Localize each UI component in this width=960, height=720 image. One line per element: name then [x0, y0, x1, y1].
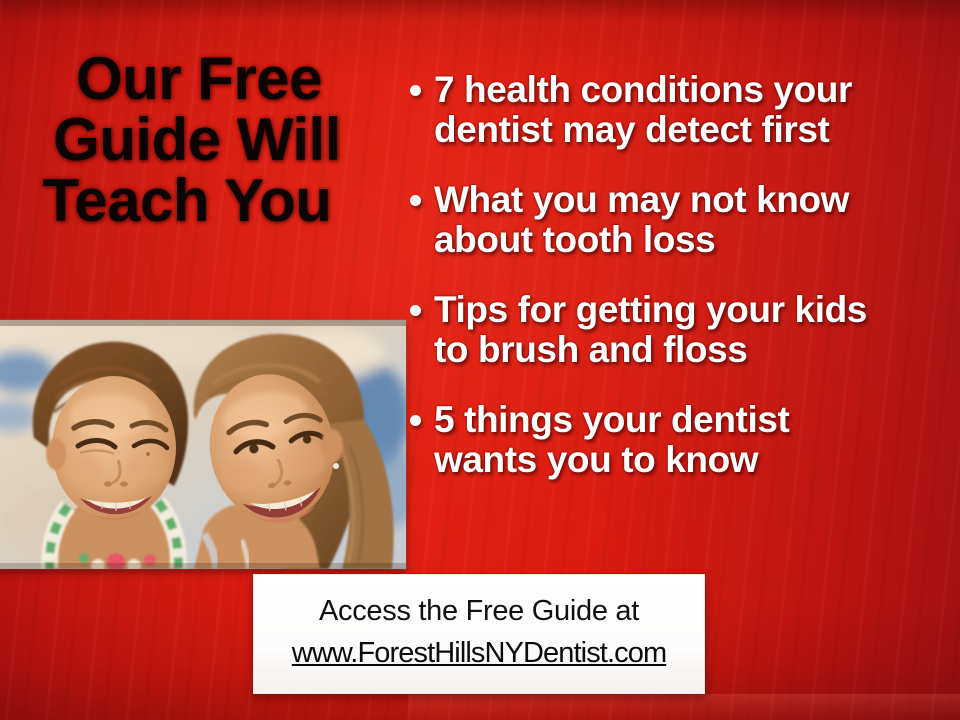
list-item-text: What you may not know about tooth loss	[434, 180, 956, 260]
list-item-text: Tips for getting your kids to brush and …	[434, 290, 956, 370]
page-title: Our Free Guide Will Teach You	[0, 48, 392, 231]
promo-slide: Our Free Guide Will Teach You 7 health c…	[0, 0, 960, 720]
list-item-line: to brush and floss	[434, 330, 956, 370]
list-item: 7 health conditions your dentist may det…	[404, 70, 956, 150]
list-item-line: about tooth loss	[434, 220, 956, 260]
list-item: 5 things your dentist wants you to know	[404, 400, 956, 480]
bullet-dot-icon	[410, 415, 421, 426]
list-item: What you may not know about tooth loss	[404, 180, 956, 260]
cta-headline: Access the Free Guide at	[319, 594, 639, 628]
list-item: Tips for getting your kids to brush and …	[404, 290, 956, 370]
list-item-text: 7 health conditions your dentist may det…	[434, 70, 956, 150]
bottom-glow-band	[408, 694, 960, 720]
list-item-line: dentist may detect first	[434, 110, 956, 150]
bullet-dot-icon	[410, 85, 421, 96]
list-item-line: Tips for getting your kids	[434, 290, 956, 330]
list-item-line: What you may not know	[434, 180, 956, 220]
cta-website-link[interactable]: www.ForestHillsNYDentist.com	[292, 636, 666, 670]
list-item-line: 5 things your dentist	[434, 400, 956, 440]
headline-line-2: Guide Will	[2, 109, 392, 170]
bullet-dot-icon	[410, 195, 421, 206]
list-item-text: 5 things your dentist wants you to know	[434, 400, 956, 480]
headline-line-3: Teach You	[0, 170, 392, 231]
photo-two-smiling-girls	[0, 320, 406, 569]
list-item-line: 7 health conditions your	[434, 70, 956, 110]
bullet-dot-icon	[410, 305, 421, 316]
benefits-list: 7 health conditions your dentist may det…	[404, 70, 956, 480]
list-item-line: wants you to know	[434, 440, 956, 480]
headline-line-1: Our Free	[6, 48, 392, 109]
cta-card[interactable]: Access the Free Guide at www.ForestHills…	[253, 574, 705, 694]
